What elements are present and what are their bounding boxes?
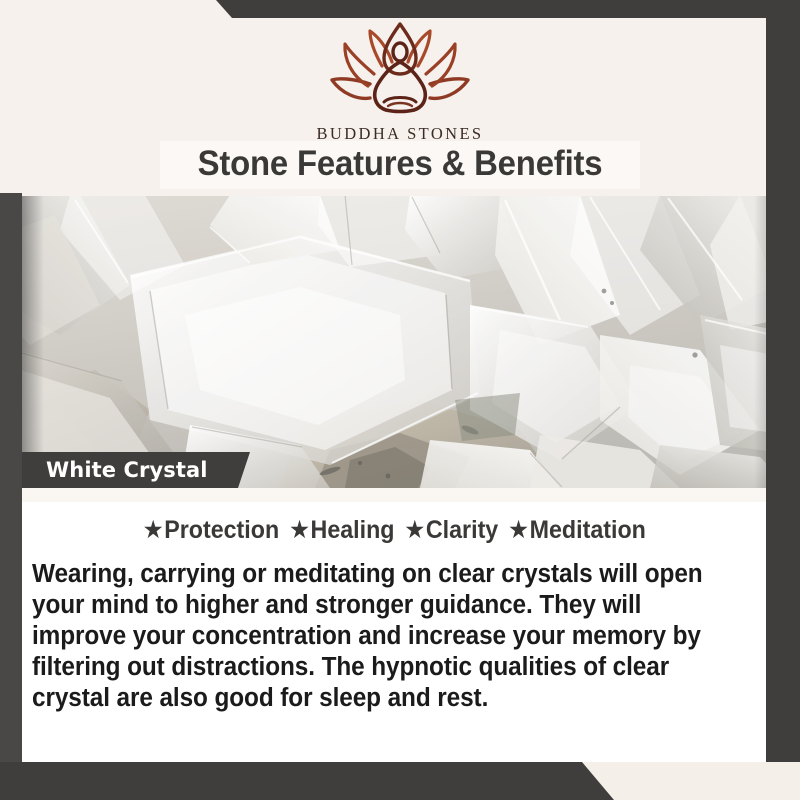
- description-text: Wearing, carrying or meditating on clear…: [32, 559, 725, 714]
- lotus-meditation-icon: [316, 22, 484, 122]
- brand-logo: BUDDHA STONES: [0, 22, 800, 144]
- crystal-photo-art: [0, 195, 800, 488]
- frame-bottom-cream-corner: [582, 762, 800, 800]
- stone-name-label: White Crystal: [46, 455, 208, 485]
- benefit-label: Clarity: [426, 516, 498, 544]
- star-icon: ★: [509, 517, 527, 542]
- star-icon: ★: [144, 517, 162, 542]
- content-top-tint: [22, 488, 766, 502]
- benefits-row: ★Protection★Healing★Clarity★Meditation: [48, 514, 740, 547]
- benefit-item-healing: ★Healing: [284, 516, 399, 544]
- frame-right-band: [766, 18, 800, 763]
- benefit-label: Meditation: [530, 516, 646, 544]
- star-icon: ★: [406, 517, 424, 542]
- stone-features-poster: BUDDHA STONES Stone Features & Benefits: [0, 0, 800, 800]
- benefit-item-protection: ★Protection: [137, 516, 283, 544]
- frame-left-band: [0, 193, 22, 800]
- benefit-label: Healing: [311, 516, 395, 544]
- benefit-label: Protection: [164, 516, 279, 544]
- page-title: Stone Features & Benefits: [24, 140, 776, 187]
- star-icon: ★: [290, 517, 308, 542]
- benefit-item-clarity: ★Clarity: [399, 516, 503, 544]
- crystal-photo: [0, 195, 800, 488]
- benefit-item-meditation: ★Meditation: [503, 516, 651, 544]
- header-top-strip: [0, 0, 216, 18]
